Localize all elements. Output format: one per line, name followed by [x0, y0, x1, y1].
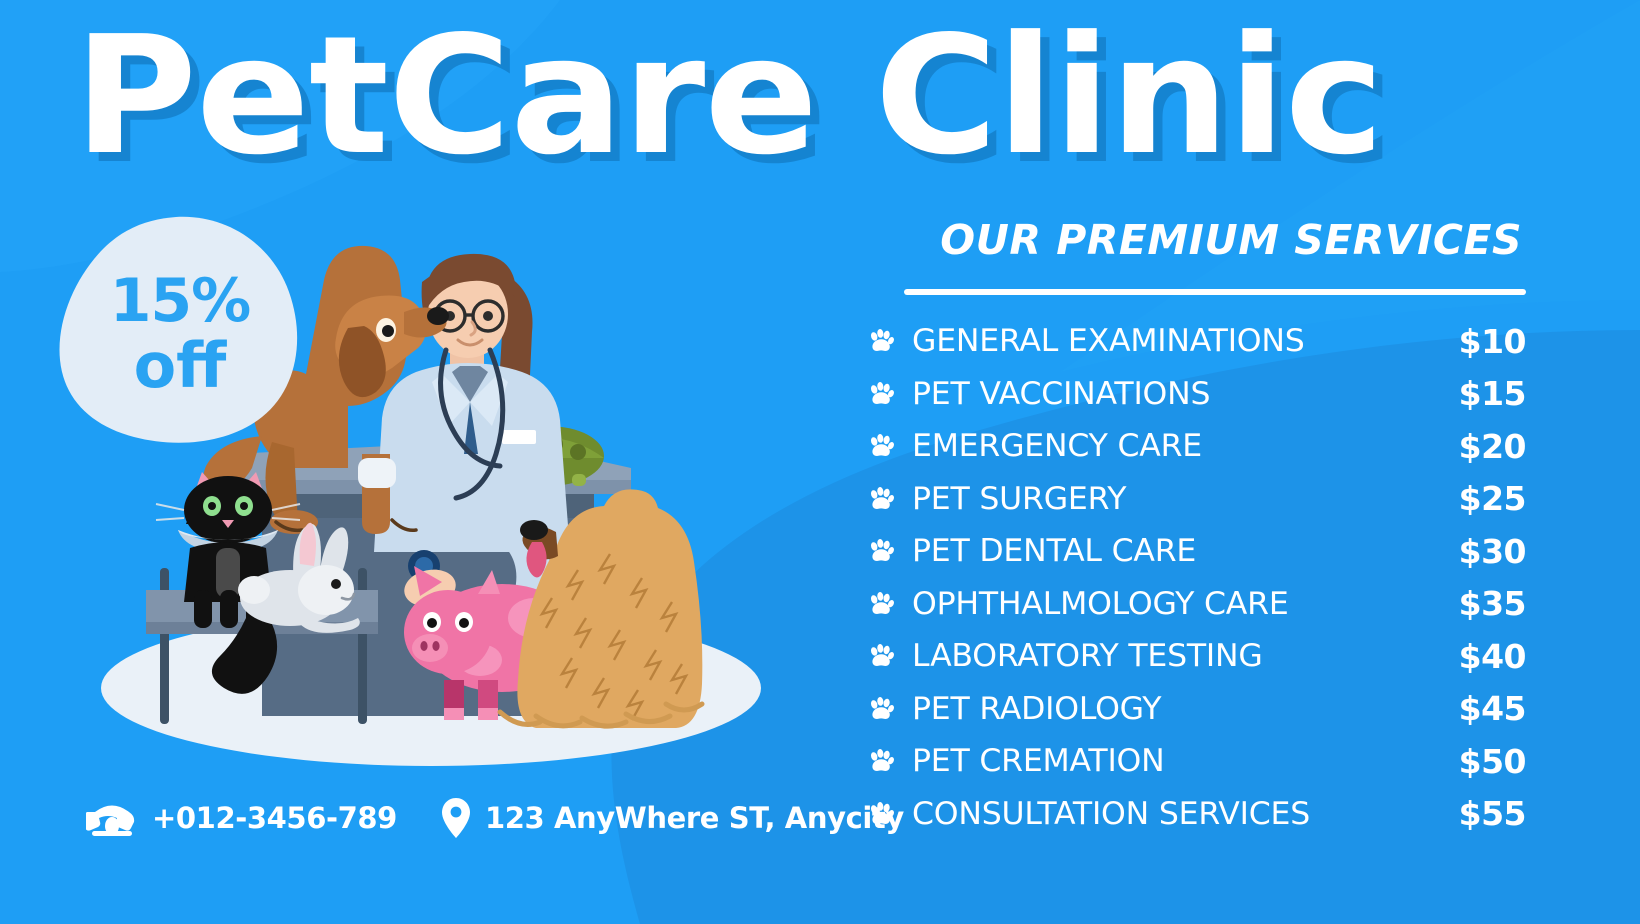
service-row-3[interactable]: PET SURGERY $25 [866, 473, 1526, 526]
phone-number: +012-3456-789 [152, 801, 397, 835]
service-row-9[interactable]: CONSULTATION SERVICES $55 [866, 788, 1526, 841]
service-name: PET RADIOLOGY [912, 691, 1161, 727]
services-heading: OUR PREMIUM SERVICES [866, 216, 1526, 264]
service-name: GENERAL EXAMINATIONS [912, 323, 1305, 359]
telephone-icon [86, 798, 138, 838]
service-price: $40 [1442, 637, 1526, 676]
service-row-5[interactable]: OPHTHALMOLOGY CARE $35 [866, 578, 1526, 631]
service-row-4[interactable]: PET DENTAL CARE $30 [866, 525, 1526, 578]
service-name: PET VACCINATIONS [912, 376, 1210, 412]
paw-print-icon [866, 592, 896, 616]
service-row-8[interactable]: PET CREMATION $50 [866, 735, 1526, 788]
paw-print-icon [866, 802, 896, 826]
paw-print-icon [866, 487, 896, 511]
service-price: $20 [1442, 427, 1526, 466]
badge-off-label: off [134, 337, 227, 394]
contact-phone[interactable]: +012-3456-789 [86, 798, 397, 838]
paw-print-icon [866, 539, 896, 563]
service-row-7[interactable]: PET RADIOLOGY $45 [866, 683, 1526, 736]
service-price: $30 [1442, 532, 1526, 571]
service-price: $55 [1442, 794, 1526, 833]
service-name: CONSULTATION SERVICES [912, 796, 1310, 832]
service-name: EMERGENCY CARE [912, 428, 1202, 464]
paw-print-icon [866, 644, 896, 668]
clinic-name: PetCare Clinic [74, 14, 1588, 180]
service-price: $50 [1442, 742, 1526, 781]
paw-print-icon [866, 749, 896, 773]
services-panel: OUR PREMIUM SERVICES GENERAL EXAMINATION… [866, 216, 1526, 840]
badge-text-group: 15% off [60, 218, 300, 450]
service-name: LABORATORY TESTING [912, 638, 1263, 674]
discount-badge: 15% off [58, 214, 298, 446]
paw-print-icon [866, 382, 896, 406]
page-title: PetCare Clinic [74, 14, 1544, 189]
service-price: $15 [1442, 374, 1526, 413]
service-row-1[interactable]: PET VACCINATIONS $15 [866, 368, 1526, 421]
service-row-6[interactable]: LABORATORY TESTING $40 [866, 630, 1526, 683]
contact-address[interactable]: 123 AnyWhere ST, Anycity [441, 797, 904, 839]
paw-print-icon [866, 697, 896, 721]
service-price: $45 [1442, 689, 1526, 728]
services-divider [904, 289, 1526, 295]
service-name: PET DENTAL CARE [912, 533, 1196, 569]
golden-retriever-illustration [500, 489, 702, 728]
service-price: $25 [1442, 479, 1526, 518]
contact-bar: +012-3456-789 123 AnyWhere ST, Anycity [86, 792, 904, 844]
service-name: PET SURGERY [912, 481, 1126, 517]
service-price: $10 [1442, 322, 1526, 361]
service-name: OPHTHALMOLOGY CARE [912, 586, 1289, 622]
badge-percent: 15% [110, 274, 251, 329]
services-list: GENERAL EXAMINATIONS $10 PET VACCINATION… [866, 315, 1526, 840]
service-row-2[interactable]: EMERGENCY CARE $20 [866, 420, 1526, 473]
paw-print-icon [866, 329, 896, 353]
paw-print-icon [866, 434, 896, 458]
service-name: PET CREMATION [912, 743, 1165, 779]
address-text: 123 AnyWhere ST, Anycity [485, 801, 904, 835]
service-price: $35 [1442, 584, 1526, 623]
service-row-0[interactable]: GENERAL EXAMINATIONS $10 [866, 315, 1526, 368]
location-pin-icon [441, 797, 471, 839]
